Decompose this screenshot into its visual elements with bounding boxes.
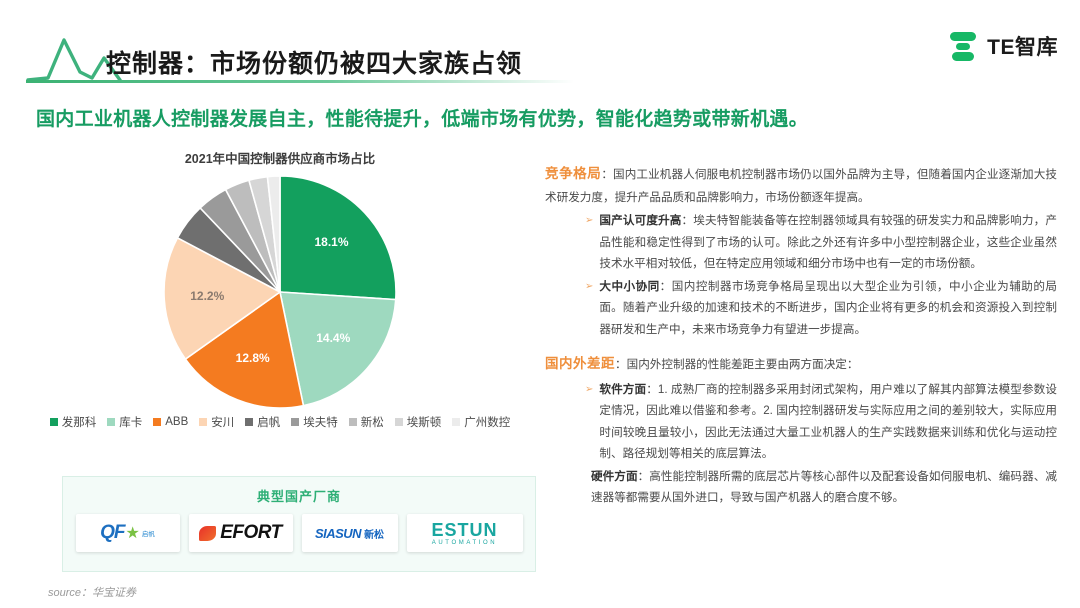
legend-swatch-icon [199, 418, 207, 426]
section-paragraph: 竞争格局：国内工业机器人伺服电机控制器市场仍以国外品牌为主导，但随着国内企业逐渐… [545, 162, 1057, 208]
efort-logo-text: EFORT [220, 522, 282, 544]
legend-swatch-icon [291, 418, 299, 426]
vendor-box-title: 典型国产厂商 [63, 486, 535, 505]
legend-item[interactable]: 新松 [349, 414, 384, 430]
bullet-item: ➢国产认可度升高：埃夫特智能装备等在控制器领域具有较强的研发实力和品牌影响力，产… [585, 210, 1057, 274]
legend-label: 发那科 [62, 414, 97, 430]
qf-logo-sub: 启帆 [142, 528, 155, 538]
bullet-text: 国产认可度升高：埃夫特智能装备等在控制器领域具有较强的研发实力和品牌影响力，产品… [599, 210, 1057, 274]
legend-item[interactable]: 安川 [199, 414, 234, 430]
page-title: 控制器：市场份额仍被四大家族占领 [106, 44, 522, 80]
subtitle: 国内工业机器人控制器发展自主，性能待提升，低端市场有优势，智能化趋势或带新机遇。 [36, 104, 808, 131]
qf-logo-text: QF [100, 522, 124, 544]
legend-swatch-icon [452, 418, 460, 426]
legend-swatch-icon [107, 418, 115, 426]
bullet-bold-label: 国产认可度升高 [599, 214, 681, 227]
legend-swatch-icon [50, 418, 58, 426]
legend-item[interactable]: 广州数控 [452, 414, 510, 430]
legend-swatch-icon [153, 418, 161, 426]
legend-item[interactable]: 启帆 [245, 414, 280, 430]
siasun-logo-text: SIASUN [315, 526, 361, 541]
legend-item[interactable]: 埃斯顿 [395, 414, 442, 430]
legend-item[interactable]: ABB [153, 416, 188, 428]
bullet-arrow-icon: ➢ [585, 276, 593, 340]
legend-item[interactable]: 库卡 [107, 414, 142, 430]
bullet-arrow-icon: ➢ [585, 210, 593, 274]
brand-logo: TE智库 [948, 30, 1058, 62]
page-header: 控制器：市场份额仍被四大家族占领 TE智库 [0, 0, 1080, 92]
te-mark-icon [948, 30, 978, 62]
chart-legend: 发那科库卡ABB安川启帆埃夫特新松埃斯顿广州数控 [30, 414, 530, 430]
section-paragraph: 国内外差距：国内外控制器的性能差距主要由两方面决定： [545, 352, 1057, 377]
bullet-text: 大中小协同：国内控制器市场竞争格局呈现出以大型企业为引领，中小企业为辅助的局面。… [599, 276, 1057, 340]
star-icon: ★ [126, 523, 140, 543]
legend-item[interactable]: 埃夫特 [291, 414, 338, 430]
efort-flame-icon [199, 526, 216, 541]
efort-logo: EFORT [189, 514, 293, 552]
brand-name: TE智库 [987, 31, 1058, 61]
chart-title: 2021年中国控制器供应商市场占比 [30, 148, 530, 167]
legend-item[interactable]: 发那科 [50, 414, 97, 430]
title-underline [26, 80, 574, 83]
legend-label: 启帆 [257, 414, 280, 430]
legend-label: 埃夫特 [303, 414, 338, 430]
estun-logo: ESTUN AUTOMATION [407, 514, 523, 552]
legend-label: 新松 [361, 414, 384, 430]
bullet-bold-label: 大中小协同 [599, 280, 659, 293]
estun-logo-sub: AUTOMATION [432, 540, 497, 546]
siasun-logo-sub: 新松 [364, 526, 384, 541]
analysis-panel: 竞争格局：国内工业机器人伺服电机控制器市场仍以国外品牌为主导，但随着国内企业逐渐… [545, 162, 1057, 509]
bullet-bold-label: 软件方面 [599, 383, 646, 396]
siasun-logo: SIASUN 新松 [302, 514, 398, 552]
bullet-arrow-icon: ➢ [585, 379, 593, 465]
bullet-item: ➢软件方面：1. 成熟厂商的控制器多采用封闭式架构，用户难以了解其内部算法模型参… [585, 379, 1057, 465]
qf-logo: QF ★ 启帆 [76, 514, 180, 552]
source-note: source：华宝证券 [48, 584, 136, 600]
legend-label: ABB [165, 416, 188, 428]
section-heading: 竞争格局 [545, 166, 601, 181]
section-heading: 国内外差距 [545, 356, 615, 371]
legend-label: 安川 [211, 414, 234, 430]
bullet-item: 硬件方面：高性能控制器所需的底层芯片等核心部件以及配套设备如伺服电机、编码器、减… [585, 466, 1057, 509]
pie-chart-block: 2021年中国控制器供应商市场占比 18.1%14.4%12.8%12.2% 发… [30, 148, 530, 448]
pie-slice [280, 176, 396, 300]
bullet-text: 软件方面：1. 成熟厂商的控制器多采用封闭式架构，用户难以了解其内部算法模型参数… [599, 379, 1057, 465]
bullet-item: ➢大中小协同：国内控制器市场竞争格局呈现出以大型企业为引领，中小企业为辅助的局面… [585, 276, 1057, 340]
bullet-bold-label: 硬件方面 [591, 470, 638, 483]
legend-label: 埃斯顿 [407, 414, 442, 430]
pie-chart: 18.1%14.4%12.8%12.2% [162, 174, 398, 410]
domestic-vendor-box: 典型国产厂商 QF ★ 启帆 EFORT SIASUN 新松 ESTUN AUT… [62, 476, 536, 572]
legend-swatch-icon [245, 418, 253, 426]
bullet-text: 硬件方面：高性能控制器所需的底层芯片等核心部件以及配套设备如伺服电机、编码器、减… [591, 466, 1057, 509]
legend-label: 广州数控 [464, 414, 510, 430]
legend-label: 库卡 [119, 414, 142, 430]
estun-logo-text: ESTUN [431, 521, 497, 539]
legend-swatch-icon [349, 418, 357, 426]
vendor-logo-row: QF ★ 启帆 EFORT SIASUN 新松 ESTUN AUTOMATION [63, 514, 535, 552]
legend-swatch-icon [395, 418, 403, 426]
